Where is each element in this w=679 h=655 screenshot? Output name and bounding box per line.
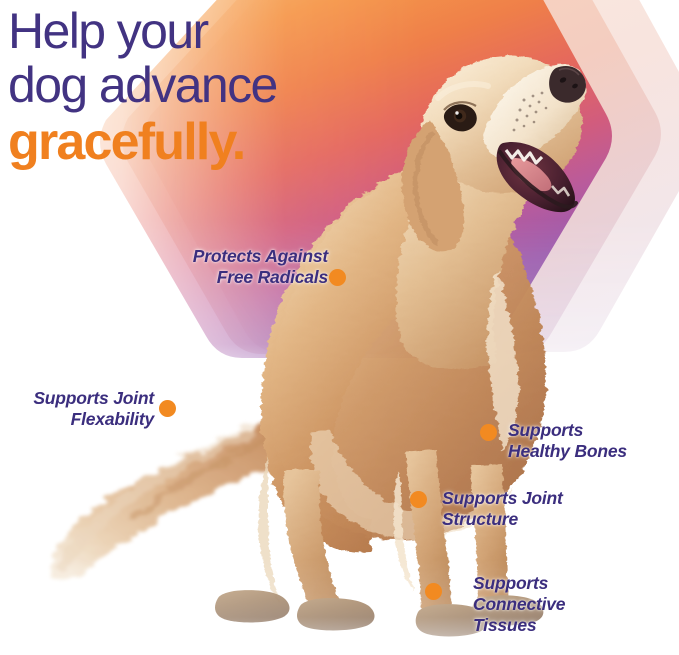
headline-line-1: Help your	[8, 4, 438, 58]
callout-label-healthy-bones: Supports Healthy Bones	[508, 420, 668, 462]
callout-dot-healthy-bones	[480, 424, 497, 441]
headline-accent-gracefully: gracefully.	[8, 114, 438, 170]
advertisement-banner: Help your dog advance gracefully.	[0, 0, 679, 655]
callout-label-joint-flexability: Supports Joint Flexability	[2, 388, 154, 430]
callout-label-joint-structure: Supports Joint Structure	[442, 488, 622, 530]
callout-label-free-radicals: Protects Against Free Radicals	[150, 246, 328, 288]
callout-dot-connective-tissues	[425, 583, 442, 600]
callout-dot-joint-flexability	[159, 400, 176, 417]
callout-dot-free-radicals	[329, 269, 346, 286]
headline-line-2: dog advance	[8, 58, 438, 112]
headline-block: Help your dog advance gracefully.	[8, 4, 438, 170]
callout-label-connective-tissues: Supports Connective Tissues	[473, 573, 633, 636]
callout-dot-joint-structure	[410, 491, 427, 508]
